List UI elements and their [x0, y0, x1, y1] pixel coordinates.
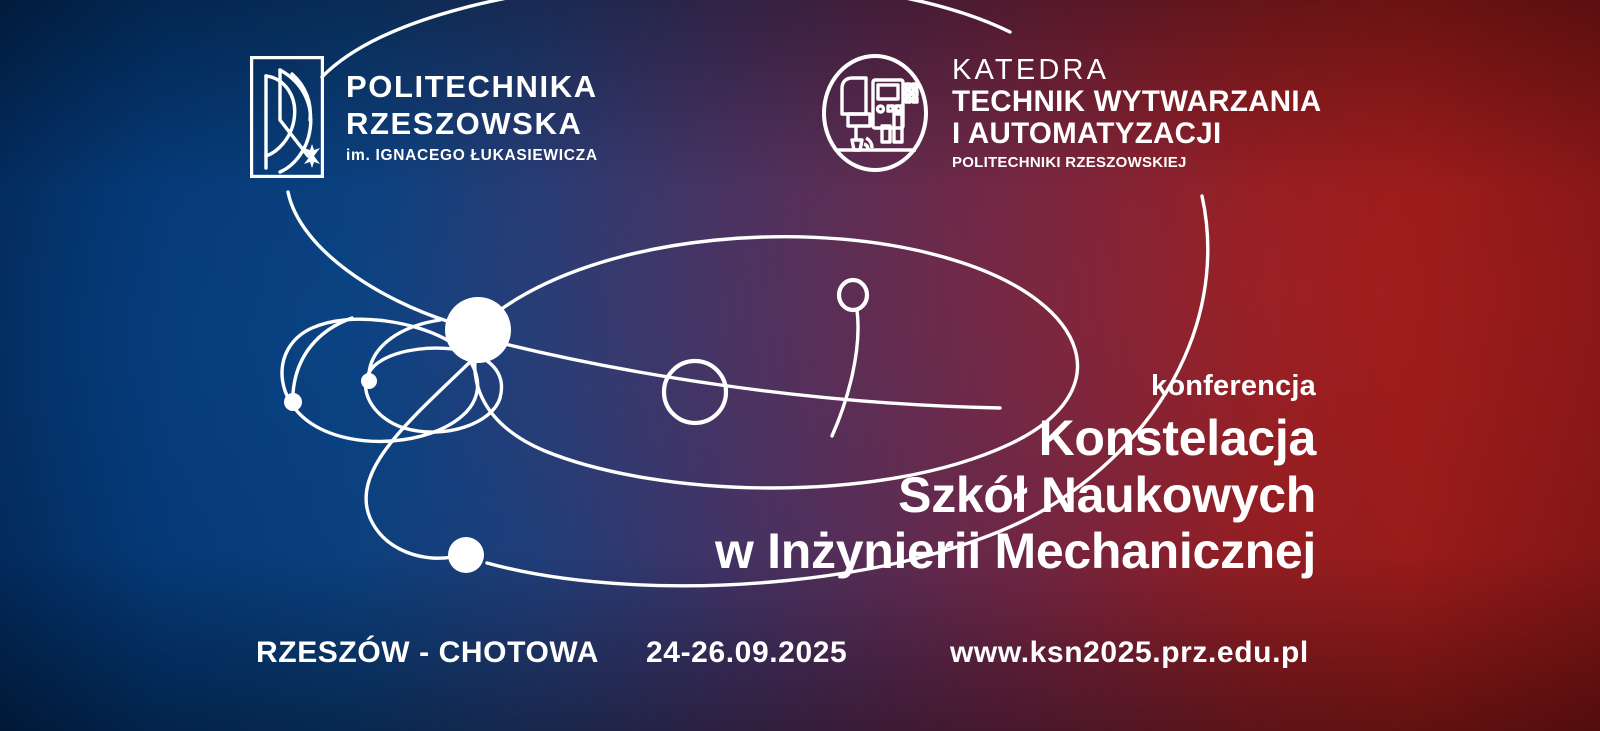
- ring-small: [839, 280, 867, 310]
- title-line-3: w Inżynierii Mechanicznej: [715, 523, 1316, 580]
- footer-date: 24-26.09.2025: [646, 630, 847, 676]
- title-kicker: konferencja: [715, 372, 1316, 401]
- politechnika-rzeszowska-emblem: [250, 56, 324, 178]
- logo-politechnika-rzeszowska: POLITECHNIKA RZESZOWSKA im. IGNACEGO ŁUK…: [250, 56, 598, 178]
- node-bottom: [448, 537, 484, 573]
- title-line-2: Szkół Naukowych: [715, 467, 1316, 524]
- logo-ktwia-line2: TECHNIK WYTWARZANIA: [952, 86, 1322, 118]
- logo-ktwia-line4: POLITECHNIKI RZESZOWSKIEJ: [952, 154, 1322, 171]
- banner-footer: RZESZÓW - CHOTOWA 24-26.09.2025 www.ksn2…: [0, 630, 1600, 676]
- logo-prz-line2: RZESZOWSKA: [346, 106, 598, 143]
- logo-prz-line3: im. IGNACEGO ŁUKASIEWICZA: [346, 147, 598, 165]
- footer-website[interactable]: www.ksn2025.prz.edu.pl: [950, 630, 1309, 676]
- conference-banner: POLITECHNIKA RZESZOWSKA im. IGNACEGO ŁUK…: [0, 0, 1600, 731]
- conference-title-block: konferencja Konstelacja Szkół Naukowych …: [715, 372, 1316, 580]
- orbit-link-left-dot: [293, 318, 352, 393]
- orbit-arc-upper-left: [288, 192, 450, 322]
- logo-prz-line1: POLITECHNIKA: [346, 69, 598, 106]
- node-left-small: [284, 393, 302, 411]
- logo-katedra-technik-wytwarzania: KATEDRA TECHNIK WYTWARZANIA I AUTOMATYZA…: [820, 52, 1322, 174]
- logo-ktwia-line1: KATEDRA: [952, 55, 1322, 86]
- node-center-large: [445, 297, 511, 363]
- constellation-orbit-graphic: [0, 0, 1600, 731]
- node-inner-small: [361, 373, 377, 389]
- footer-location: RZESZÓW - CHOTOWA: [256, 630, 599, 676]
- orbit-arc-lower-loop: [366, 362, 470, 558]
- title-line-1: Konstelacja: [715, 410, 1316, 467]
- katedra-technik-wytwarzania-emblem: [820, 52, 930, 174]
- logo-ktwia-line3: I AUTOMATYZACJI: [952, 118, 1322, 150]
